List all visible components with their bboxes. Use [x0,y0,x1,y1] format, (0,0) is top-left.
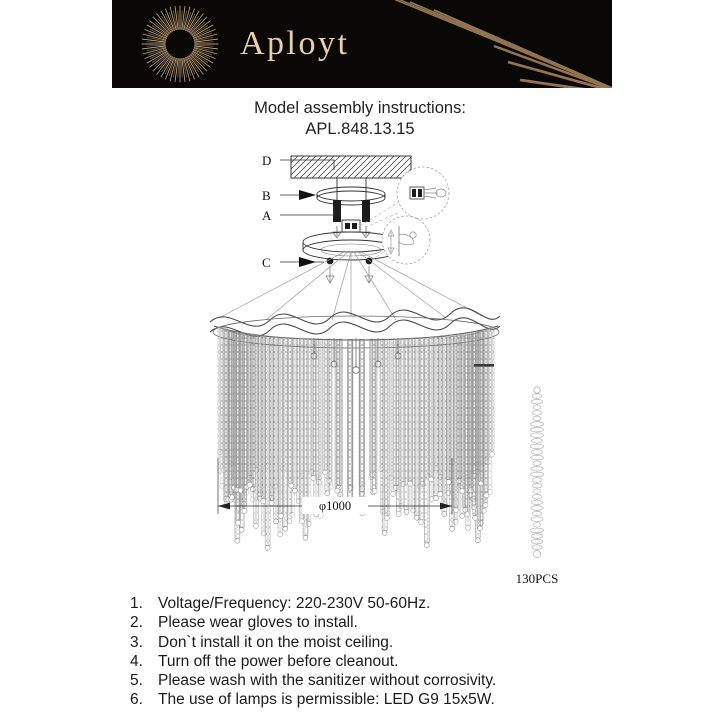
page-title: Model assembly instructions: [0,98,720,119]
callout-label-A: A [262,208,272,223]
instruction-text: Please wash with the sanitizer without c… [158,671,690,690]
terminal-box [342,220,360,232]
instruction-text: Please wear gloves to install. [158,613,690,632]
suspension-cables [219,252,482,320]
instruction-item: 3.Don`t install it on the moist ceiling. [130,633,690,652]
callout-letters: D B A C [262,153,272,270]
part-count-label: 130PCS [497,571,577,587]
cable-lock-point [326,258,373,283]
instruction-item: 5.Please wash with the sanitizer without… [130,671,690,690]
instruction-number: 6. [130,690,158,709]
instruction-item: 6.The use of lamps is permissible: LED G… [130,690,690,709]
instruction-number: 2. [130,613,158,632]
instruction-text: Don`t install it on the moist ceiling. [158,633,690,652]
instruction-number: 5. [130,671,158,690]
part-callout: 130PCS [497,382,577,587]
document-title-block: Model assembly instructions: APL.848.13.… [0,98,720,140]
gold-rays-decoration-icon [382,0,612,88]
diameter-dimension-label: φ1000 [319,499,351,513]
crystal-strand-icon [497,382,577,562]
callout-label-B: B [262,188,271,203]
instruction-text: Voltage/Frequency: 220-230V 50-60Hz. [158,594,690,613]
mounting-bracket [317,187,385,205]
sunburst-logo-icon [140,4,220,84]
callout-label-D: D [262,153,271,168]
instruction-number: 4. [130,652,158,671]
brand-wordmark: Aployt [240,25,349,63]
brand-header-banner: Aployt [112,0,612,88]
callout-label-C: C [262,255,271,270]
instruction-text: Turn off the power before cleanout. [158,652,690,671]
instruction-item: 4.Turn off the power before cleanout. [130,652,690,671]
callout-arrowheads [299,190,316,267]
instruction-number: 1. [130,594,158,613]
instruction-item: 2.Please wear gloves to install. [130,613,690,632]
instruction-list: 1.Voltage/Frequency: 220-230V 50-60Hz.2.… [130,594,690,710]
detail-cable-callout [372,216,430,264]
instruction-number: 3. [130,633,158,652]
instruction-text: The use of lamps is permissible: LED G9 … [158,690,690,709]
instruction-item: 1.Voltage/Frequency: 220-230V 50-60Hz. [130,594,690,613]
overall-height-marker [474,364,494,367]
model-code: APL.848.13.15 [0,119,720,140]
assembly-diagram: D B A C [14,140,706,590]
ceiling-surface [291,156,411,178]
